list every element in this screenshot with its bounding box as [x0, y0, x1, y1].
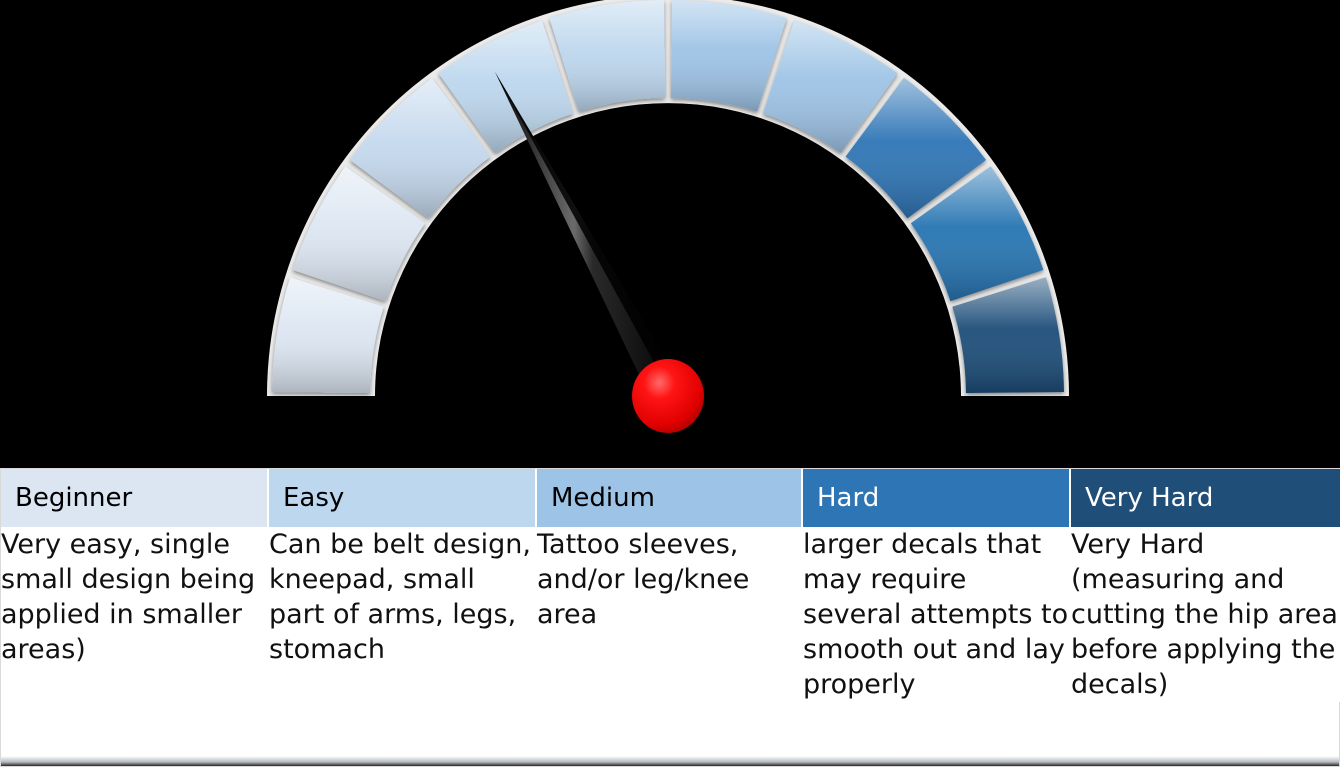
- gauge-hub: [632, 359, 704, 433]
- header-cell-beginner[interactable]: Beginner: [1, 469, 269, 527]
- header-label-very-hard: Very Hard: [1085, 485, 1213, 511]
- header-label-beginner: Beginner: [15, 485, 132, 511]
- header-cell-very-hard[interactable]: Very Hard: [1071, 469, 1340, 527]
- body-cell-very-hard: Very Hard (measuring and cutting the hip…: [1071, 527, 1340, 702]
- table-header-row: Beginner Easy Medium Hard Very Hard: [1, 469, 1340, 527]
- header-cell-easy[interactable]: Easy: [269, 469, 537, 527]
- table-bottom-shadow: [1, 756, 1339, 766]
- table-body-row: Very easy, single small design being app…: [1, 527, 1340, 702]
- body-cell-beginner: Very easy, single small design being app…: [1, 527, 269, 702]
- header-cell-medium[interactable]: Medium: [537, 469, 803, 527]
- slide-canvas: Beginner Easy Medium Hard Very Hard Very…: [0, 0, 1340, 767]
- body-cell-easy: Can be belt design, kneepad, small part …: [269, 527, 537, 702]
- body-cell-medium: Tattoo sleeves, and/or leg/knee area: [537, 527, 803, 702]
- header-label-medium: Medium: [551, 485, 655, 511]
- gauge-svg: [0, 0, 1340, 470]
- header-label-easy: Easy: [283, 485, 344, 511]
- difficulty-legend-table: Beginner Easy Medium Hard Very Hard Very…: [0, 468, 1340, 767]
- gauge-needle: [495, 72, 683, 404]
- header-cell-hard[interactable]: Hard: [803, 469, 1071, 527]
- difficulty-gauge: [0, 0, 1340, 470]
- legend-table-element: Beginner Easy Medium Hard Very Hard Very…: [1, 469, 1340, 702]
- header-label-hard: Hard: [817, 485, 879, 511]
- body-cell-hard: larger decals that may require several a…: [803, 527, 1071, 702]
